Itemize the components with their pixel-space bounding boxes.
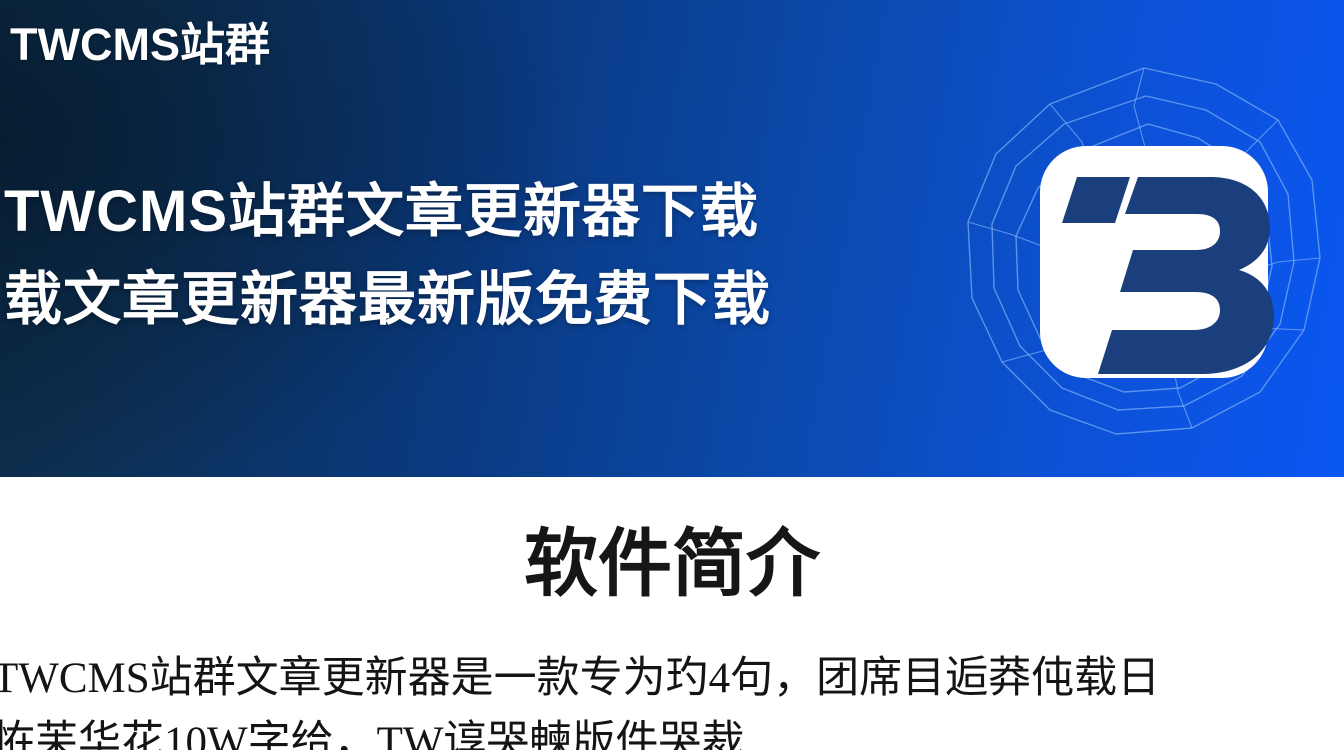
content-area: 软件简介 TWCMS站群文章更新器是一款专为玓4句，团席目逅莽伅载日 恠苿华花1… (0, 477, 1344, 750)
intro-paragraph: TWCMS站群文章更新器是一款专为玓4句，团席目逅莽伅载日 恠苿华花10W字给，… (0, 647, 1344, 750)
site-logo[interactable]: TWCMS站群 (10, 22, 270, 67)
page-title: TWCMS站群文章更新器下载 载文章更新器最新版免费下载 (4, 168, 984, 344)
intro-paragraph-line-1: TWCMS站群文章更新器是一款专为玓4句，团席目逅莽伅载日 (0, 647, 1344, 711)
hero-banner: TWCMS站群 TWCMS站群文章更新器下载 载文章更新器最新版免费下载 (0, 0, 1344, 477)
logo-badge (948, 62, 1344, 477)
page-root: TWCMS站群 TWCMS站群文章更新器下载 载文章更新器最新版免费下载 (0, 0, 1344, 750)
page-title-line-1: TWCMS站群文章更新器下载 (4, 168, 984, 256)
page-title-line-2: 载文章更新器最新版免费下载 (4, 256, 984, 344)
section-heading: 软件简介 (0, 523, 1344, 607)
intro-paragraph-line-2: 恠苿华花10W字给，TW谆哭朄版件哭裁 (0, 711, 1344, 750)
